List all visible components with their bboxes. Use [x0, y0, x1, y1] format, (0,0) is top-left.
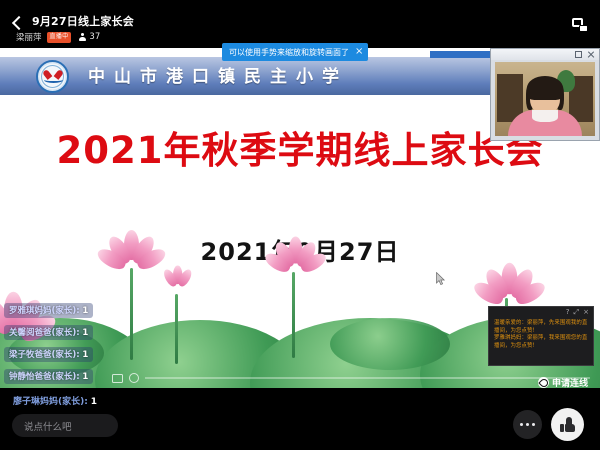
chat-text: 1 [91, 397, 97, 407]
room-title: 9月27日线上家长会 [32, 13, 134, 29]
more-options-button[interactable] [513, 410, 542, 439]
notification-body: 温暖亲爱的：梁丽萍，先来围观我的直 播间，为您点赞！ 罗雅琪妈妈：梁丽萍，我来围… [489, 318, 593, 350]
chat-message: 梁子牧爸爸(家长): 1 [4, 347, 93, 362]
presenter-webcam-window[interactable] [490, 48, 600, 141]
picture-in-picture-icon[interactable] [572, 18, 588, 32]
person-icon [78, 33, 86, 42]
chat-input-placeholder: 说点什么吧 [24, 419, 72, 433]
help-icon[interactable]: ? [566, 309, 570, 316]
close-icon[interactable]: × [583, 309, 589, 316]
school-emblem-icon [36, 60, 69, 93]
viewer-count: 37 [89, 32, 100, 42]
chat-message: 罗雅琪妈妈(家长): 1 [4, 303, 93, 318]
bottom-bar: 廖子琳妈妈(家长): 1 说点什么吧 申请连线 [0, 388, 600, 450]
notification-line: 播间，为您点赞！ [494, 343, 589, 351]
notification-line: 温暖亲爱的：梁丽萍，先来围观我的直 [494, 320, 589, 328]
chat-text: 1 [82, 306, 88, 316]
slide-date: 2021年9月27日 [0, 232, 600, 267]
chat-text: 1 [82, 328, 88, 338]
host-name: 梁丽萍 [16, 31, 42, 43]
link-icon [538, 377, 549, 388]
notification-popup[interactable]: ? ⤢ × 温暖亲爱的：梁丽萍，先来围观我的直 播间，为您点赞！ 罗雅琪妈妈：梁… [488, 306, 594, 366]
chat-message: 关馨阅爸爸(家长): 1 [4, 325, 93, 340]
close-icon[interactable] [587, 51, 594, 58]
notification-line: 罗雅琪妈妈：梁丽萍，我来围观您的直 [494, 335, 589, 343]
top-bar: 9月27日线上家长会 梁丽萍 直播中 37 [0, 0, 600, 48]
request-connect-button[interactable]: 申请连线 [538, 376, 588, 389]
gesture-tip-text: 可以使用手势来缩放和旋转画面了 [229, 47, 349, 58]
request-connect-label: 申请连线 [552, 376, 588, 389]
chat-overlay: 罗雅琪妈妈(家长): 1 关馨阅爸爸(家长): 1 梁子牧爸爸(家长): 1 钟… [0, 298, 240, 386]
chat-author: 关馨阅爸爸(家长): [9, 328, 80, 338]
chat-text: 1 [82, 372, 88, 382]
expand-icon[interactable]: ⤢ [574, 309, 580, 316]
close-icon[interactable]: × [355, 47, 363, 57]
live-status-badge: 直播中 [47, 32, 72, 43]
chat-author: 罗雅琪妈妈(家长): [9, 306, 80, 316]
thumbs-up-icon [560, 417, 575, 432]
chat-author: 梁子牧爸爸(家长): [9, 350, 80, 360]
restore-icon[interactable] [575, 51, 582, 58]
back-chevron-icon[interactable] [10, 16, 24, 30]
live-stream-app: 9月27日线上家长会 梁丽萍 直播中 37 可以使用手势来缩放和旋转画面了 × [0, 0, 600, 450]
video-stage[interactable]: 中山市港口镇民主小学 2021年秋季学期线上家长会 2021年9月27日 [0, 48, 600, 388]
notification-titlebar: ? ⤢ × [489, 307, 593, 318]
school-name: 中山市港口镇民主小学 [88, 62, 348, 87]
like-button[interactable] [551, 408, 584, 441]
chat-author: 廖子琳妈妈(家长): [13, 397, 88, 407]
viewer-count-group: 37 [78, 32, 100, 42]
presenter-webcam-video [495, 62, 595, 136]
host-info-row: 梁丽萍 直播中 37 [16, 31, 100, 43]
more-dots-icon [532, 423, 535, 426]
webcam-window-titlebar [491, 49, 599, 60]
chat-author: 钟静怡爸爸(家长): [9, 372, 80, 382]
more-dots-icon [526, 423, 529, 426]
chat-text: 1 [82, 350, 88, 360]
more-dots-icon [520, 423, 523, 426]
chat-input[interactable]: 说点什么吧 [12, 414, 118, 437]
latest-chat-message: 廖子琳妈妈(家长): 1 [13, 394, 97, 407]
gesture-tip-toast: 可以使用手势来缩放和旋转画面了 × [222, 43, 368, 61]
chat-message: 钟静怡爸爸(家长): 1 [4, 369, 93, 384]
